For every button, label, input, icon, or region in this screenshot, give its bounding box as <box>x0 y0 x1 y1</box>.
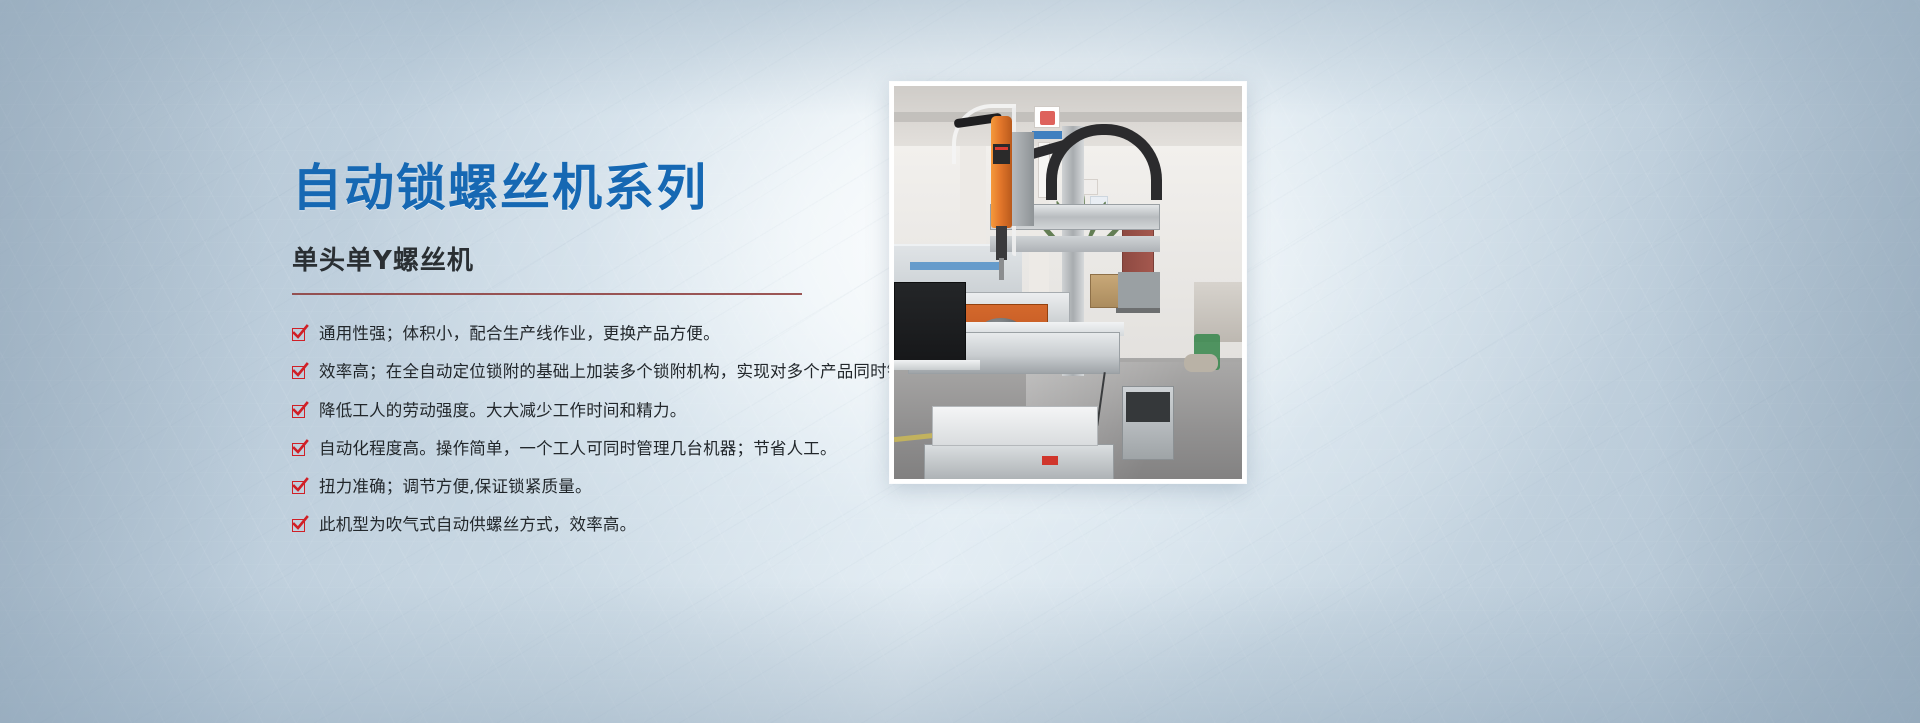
photo-blue-label <box>1032 131 1062 139</box>
screw-feeder-base <box>894 360 980 370</box>
power-switch[interactable] <box>1042 456 1058 465</box>
photo-ceiling-beam <box>894 112 1242 122</box>
list-item: 降低工人的劳动强度。大大减少工作时间和精力。 <box>292 400 892 422</box>
list-item: 自动化程度高。操作简单，一个工人可同时管理几台机器；节省人工。 <box>292 438 892 460</box>
product-photo-frame: 000 <box>890 82 1246 483</box>
screwdriver-label <box>993 144 1010 164</box>
feature-list: 通用性强；体积小，配合生产线作业，更换产品方便。 效率高；在全自动定位锁附的基础… <box>292 323 892 537</box>
photo-warning-sign <box>1034 106 1060 128</box>
feature-text: 此机型为吹气式自动供螺丝方式，效率高。 <box>319 514 636 536</box>
screwdriver-chuck <box>996 226 1007 260</box>
screwdriver-bit <box>999 258 1004 280</box>
machine-side-cabinet-screen <box>1126 392 1170 422</box>
page-subtitle: 单头单Y螺丝机 <box>292 240 892 277</box>
check-icon <box>292 328 305 341</box>
product-photo: 000 <box>894 86 1242 479</box>
check-icon <box>292 405 305 418</box>
screw-feeder-unit <box>894 282 966 366</box>
list-item: 通用性强；体积小，配合生产线作业，更换产品方便。 <box>292 323 892 345</box>
feature-text: 扭力准确；调节方便,保证锁紧质量。 <box>319 476 592 498</box>
list-item: 效率高；在全自动定位锁附的基础上加装多个锁附机构，实现对多个产品同时锁附。 <box>292 361 892 383</box>
check-icon <box>292 366 305 379</box>
check-icon <box>292 519 305 532</box>
photo-bench-mat <box>910 262 1002 270</box>
page-title: 自动锁螺丝机系列 <box>292 160 892 216</box>
control-panel[interactable]: 000 <box>932 406 1098 446</box>
text-column: 自动锁螺丝机系列 单头单Y螺丝机 通用性强；体积小，配合生产线作业，更换产品方便… <box>292 160 892 553</box>
electric-screwdriver <box>991 116 1012 228</box>
photo-box-stack <box>1194 282 1242 342</box>
feature-text: 降低工人的劳动强度。大大减少工作时间和精力。 <box>319 400 686 422</box>
machine-base <box>924 444 1114 479</box>
banner-content: 自动锁螺丝机系列 单头单Y螺丝机 通用性强；体积小，配合生产线作业，更换产品方便… <box>0 0 1920 723</box>
list-item: 此机型为吹气式自动供螺丝方式，效率高。 <box>292 514 892 536</box>
product-banner: 自动锁螺丝机系列 单头单Y螺丝机 通用性强；体积小，配合生产线作业，更换产品方便… <box>0 0 1920 723</box>
check-icon <box>292 443 305 456</box>
machine-head-mount <box>1012 132 1034 226</box>
feature-text: 效率高；在全自动定位锁附的基础上加装多个锁附机构，实现对多个产品同时锁附。 <box>319 361 937 383</box>
photo-cart <box>1118 272 1160 312</box>
feature-text: 自动化程度高。操作简单，一个工人可同时管理几台机器；节省人工。 <box>319 438 837 460</box>
feature-text: 通用性强；体积小，配合生产线作业，更换产品方便。 <box>319 323 720 345</box>
photo-glove <box>1184 354 1218 372</box>
list-item: 扭力准确；调节方便,保证锁紧质量。 <box>292 476 892 498</box>
check-icon <box>292 481 305 494</box>
photo-dolly <box>1116 308 1160 313</box>
title-divider <box>292 293 802 295</box>
